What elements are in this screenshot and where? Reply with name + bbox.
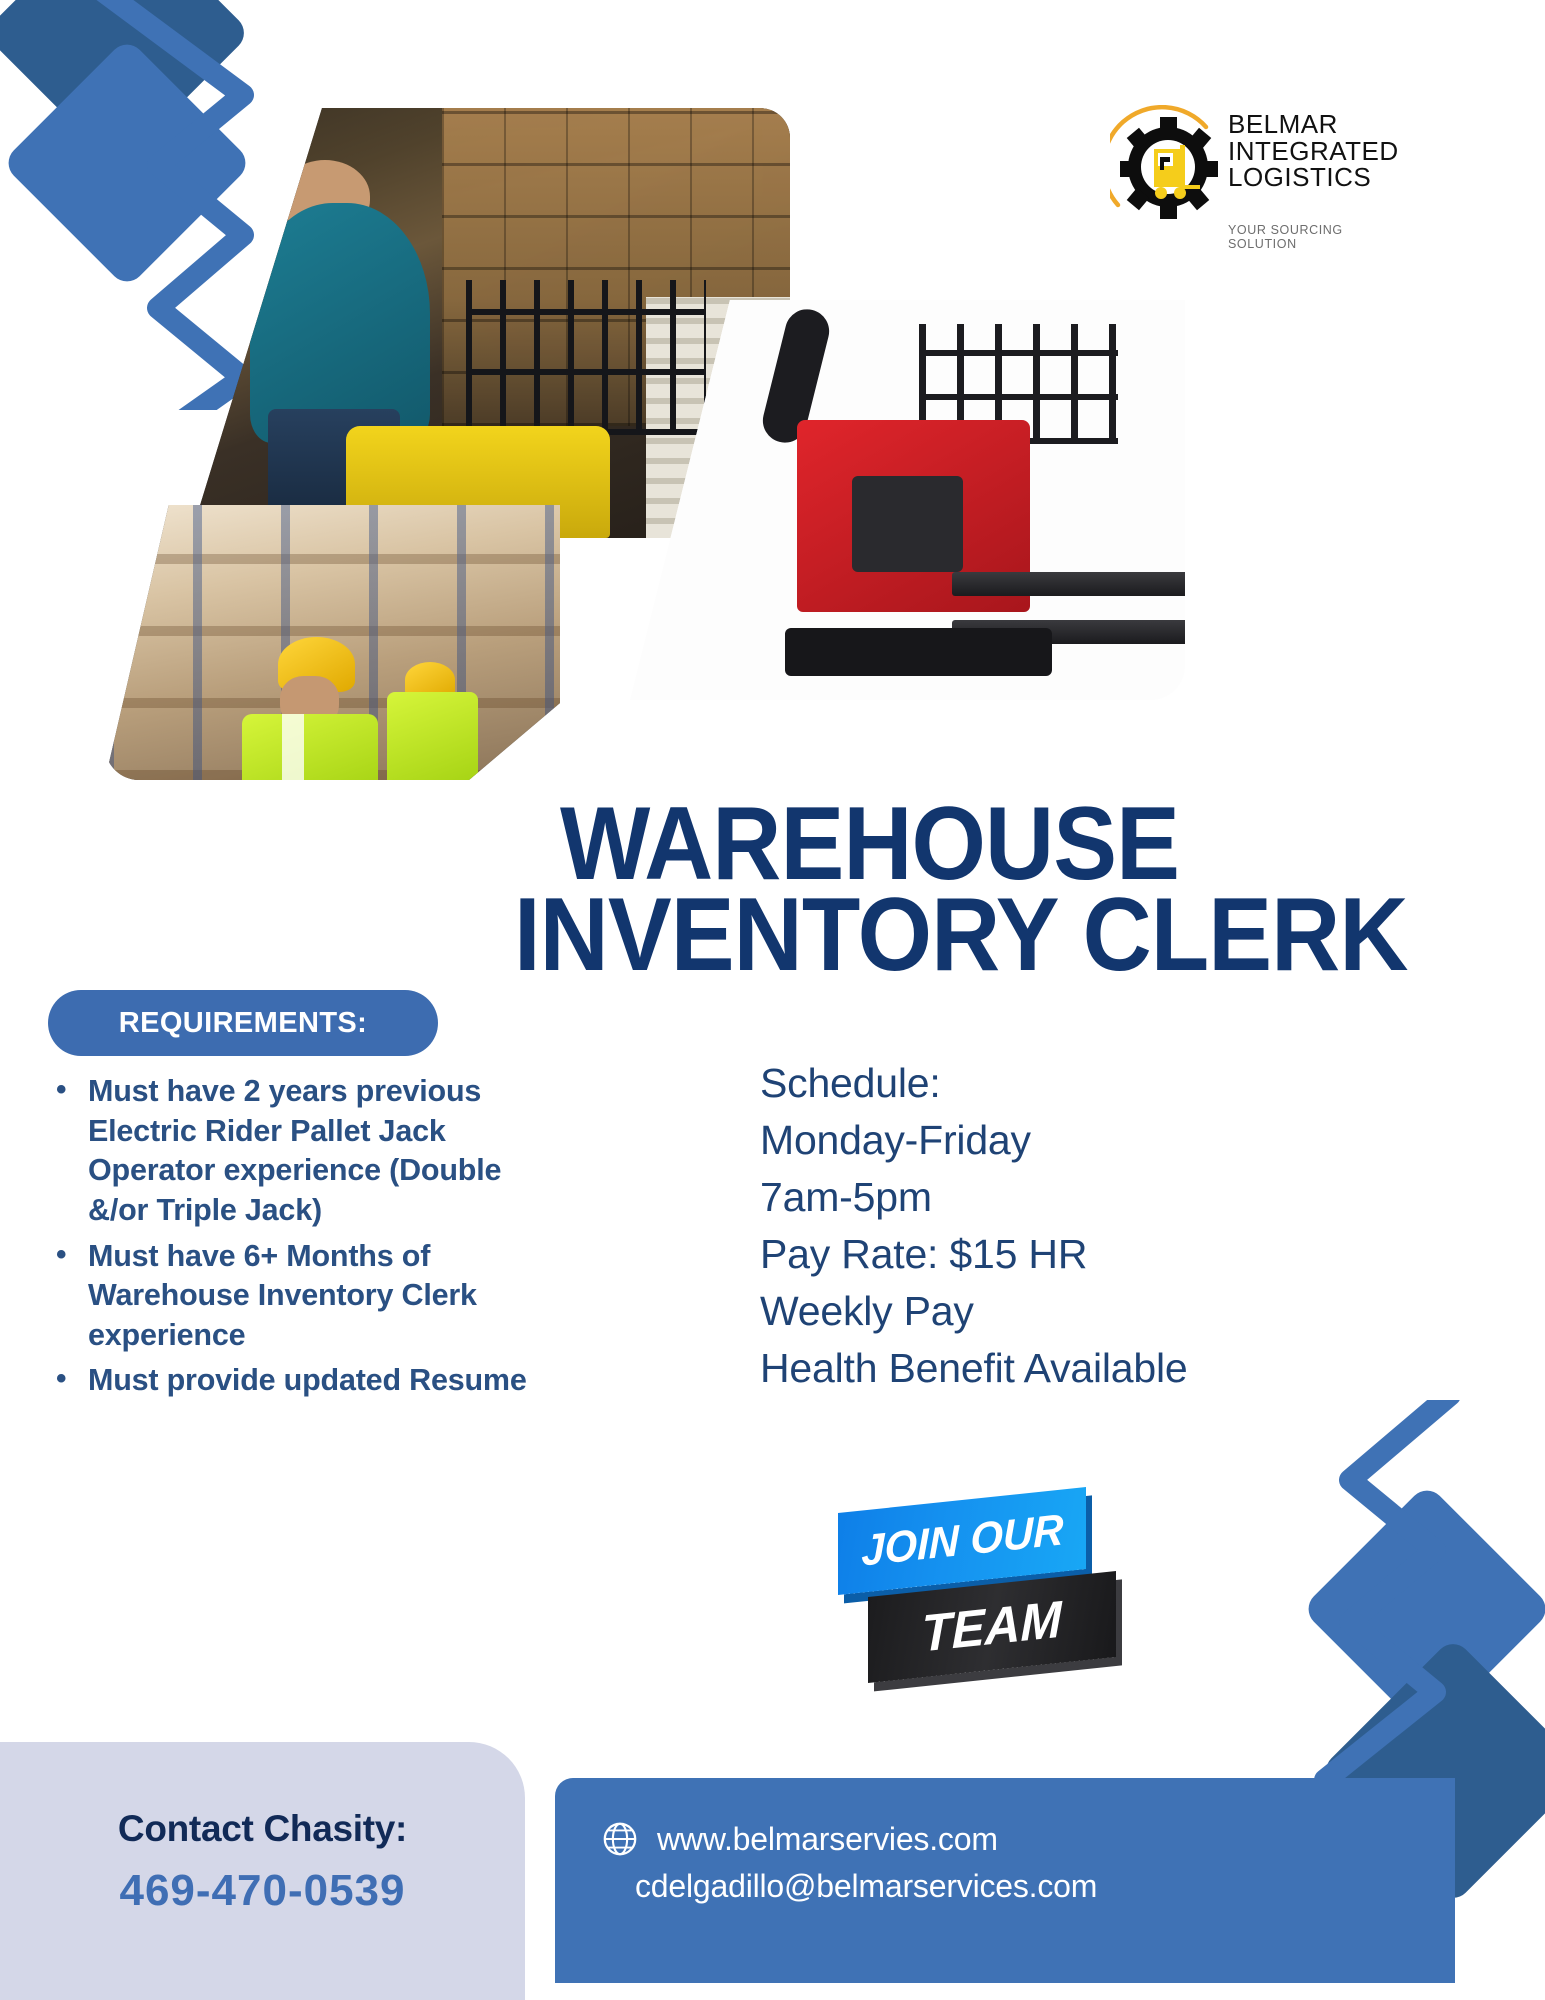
join-our-label: JOIN OUR xyxy=(861,1505,1063,1576)
contact-phone[interactable]: 469-470-0539 xyxy=(0,1866,525,1916)
contact-name: Contact Chasity: xyxy=(0,1808,525,1850)
flyer-page: BELMAR INTEGRATED LOGISTICS YOUR SOURCIN… xyxy=(0,0,1545,2000)
decor-square-light xyxy=(1,37,253,289)
schedule-line: 7am-5pm xyxy=(760,1169,1460,1226)
schedule-line: Health Benefit Available xyxy=(760,1340,1460,1397)
logo-line-2: INTEGRATED xyxy=(1228,138,1399,165)
join-our-team-badge: JOIN OUR TEAM xyxy=(820,1480,1120,1690)
page-title: WAREHOUSE INVENTORY CLERK xyxy=(560,800,1520,981)
requirements-badge-label: REQUIREMENTS: xyxy=(119,1007,368,1040)
schedule-line: Weekly Pay xyxy=(760,1283,1460,1340)
globe-icon xyxy=(601,1820,639,1858)
company-logo: BELMAR INTEGRATED LOGISTICS YOUR SOURCIN… xyxy=(1110,105,1390,240)
logo-tagline: YOUR SOURCING SOLUTION xyxy=(1228,223,1390,251)
schedule-block: Schedule: Monday-Friday 7am-5pm Pay Rate… xyxy=(760,1055,1460,1397)
schedule-line: Schedule: xyxy=(760,1055,1460,1112)
footer-bar: www.belmarservies.com cdelgadillo@belmar… xyxy=(555,1778,1455,1983)
logo-line-3: LOGISTICS xyxy=(1228,164,1399,191)
schedule-line: Pay Rate: $15 HR xyxy=(760,1226,1460,1283)
requirements-list: Must have 2 years previous Electric Ride… xyxy=(42,1072,562,1407)
title-line-2: INVENTORY CLERK xyxy=(514,891,1440,980)
decor-square-light-br xyxy=(1301,1483,1545,1735)
schedule-line: Monday-Friday xyxy=(760,1112,1460,1169)
footer-email[interactable]: cdelgadillo@belmarservices.com xyxy=(635,1868,1455,1905)
list-item: Must provide updated Resume xyxy=(42,1361,562,1401)
requirements-badge: REQUIREMENTS: xyxy=(48,990,438,1056)
footer-website-row: www.belmarservies.com xyxy=(601,1820,1455,1858)
gear-forklift-logo-icon xyxy=(1110,105,1222,225)
list-item: Must have 6+ Months of Warehouse Invento… xyxy=(42,1237,562,1356)
footer-website[interactable]: www.belmarservies.com xyxy=(657,1821,998,1858)
decor-square-dark xyxy=(0,0,251,167)
contact-panel: Contact Chasity: 469-470-0539 xyxy=(0,1742,525,2000)
title-line-1: WAREHOUSE xyxy=(560,800,1443,889)
photo-hardhat-worker xyxy=(105,505,560,780)
logo-line-1: BELMAR xyxy=(1228,111,1399,138)
chevron-zigzag-icon-br xyxy=(1290,1400,1545,1830)
logo-wordmark: BELMAR INTEGRATED LOGISTICS xyxy=(1228,111,1399,191)
list-item: Must have 2 years previous Electric Ride… xyxy=(42,1072,562,1231)
team-label: TEAM xyxy=(922,1590,1062,1665)
